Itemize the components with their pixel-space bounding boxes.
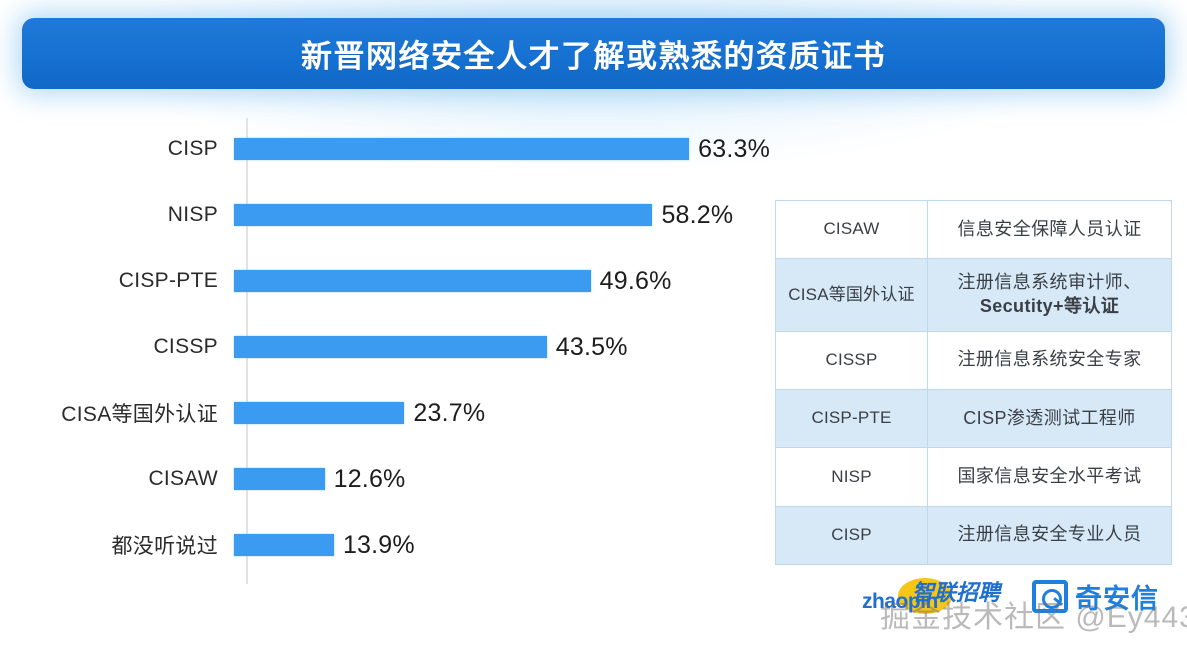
cert-code-cell: CISP-PTE <box>776 390 928 448</box>
cert-code-cell: CISA等国外认证 <box>776 259 928 331</box>
bar <box>234 468 325 490</box>
bar-category-label: CISP-PTE <box>0 269 232 293</box>
bar-value-label: 23.7% <box>413 399 485 428</box>
bar-row: CISP63.3% <box>0 128 770 170</box>
bar-row: CISP-PTE49.6% <box>0 260 770 302</box>
footer-logos: zhaopin 智联招聘 奇安信 <box>860 572 1187 620</box>
bar-category-label: CISA等国外认证 <box>0 398 232 428</box>
bar-row: CISAW12.6% <box>0 458 770 500</box>
infographic-root: 新晋网络安全人才了解或熟悉的资质证书 CISP63.3%NISP58.2%CIS… <box>0 0 1187 648</box>
bar-category-label: CISSP <box>0 335 232 359</box>
bar-value-label: 12.6% <box>334 465 406 494</box>
bar-with-value: 49.6% <box>234 267 672 296</box>
bar-category-label: NISP <box>0 203 232 227</box>
bar <box>234 270 591 292</box>
bar-value-label: 63.3% <box>698 135 770 164</box>
bar-row: 都没听说过13.9% <box>0 524 770 566</box>
table-row: NISP国家信息安全水平考试 <box>776 448 1172 506</box>
bar-with-value: 58.2% <box>234 201 733 230</box>
cert-description-line-1: 注册信息系统审计师、 <box>934 271 1165 295</box>
table-row: CISA等国外认证注册信息系统审计师、Secutity+等认证 <box>776 259 1172 331</box>
qianxin-cn-text: 奇安信 <box>1075 577 1159 616</box>
bar <box>234 336 547 358</box>
title-banner: 新晋网络安全人才了解或熟悉的资质证书 <box>22 18 1165 89</box>
cert-description-cell: CISP渗透测试工程师 <box>928 390 1172 448</box>
zhaopin-logo: zhaopin 智联招聘 <box>860 574 1030 618</box>
bar-row: CISSP43.5% <box>0 326 770 368</box>
cert-description-cell: 注册信息安全专业人员 <box>928 506 1172 564</box>
bar-value-label: 49.6% <box>600 267 672 296</box>
bar-with-value: 12.6% <box>234 465 405 494</box>
cert-description-cell: 信息安全保障人员认证 <box>928 201 1172 259</box>
qianxin-logo: 奇安信 <box>1032 575 1187 617</box>
table-row: CISP注册信息安全专业人员 <box>776 506 1172 564</box>
cert-description-cell: 注册信息系统审计师、Secutity+等认证 <box>928 259 1172 331</box>
bar <box>234 204 652 226</box>
bar-with-value: 23.7% <box>234 399 485 428</box>
cert-description-cell: 国家信息安全水平考试 <box>928 448 1172 506</box>
bar-value-label: 13.9% <box>343 531 415 560</box>
table-row: CISP-PTECISP渗透测试工程师 <box>776 390 1172 448</box>
qianxin-bracket-icon <box>1032 580 1068 613</box>
cert-code-cell: CISSP <box>776 331 928 389</box>
bar-row: NISP58.2% <box>0 194 770 236</box>
cert-description-line-2: Secutity+等认证 <box>934 295 1165 319</box>
zhaopin-cn-text: 智联招聘 <box>912 575 1000 607</box>
bar-category-label: CISAW <box>0 467 232 491</box>
bar-row: CISA等国外认证23.7% <box>0 392 770 434</box>
bar-chart: CISP63.3%NISP58.2%CISP-PTE49.6%CISSP43.5… <box>0 108 770 586</box>
bar-category-label: 都没听说过 <box>0 530 232 560</box>
cert-description-cell: 注册信息系统安全专家 <box>928 331 1172 389</box>
table-row: CISAW信息安全保障人员认证 <box>776 201 1172 259</box>
bar-with-value: 13.9% <box>234 531 415 560</box>
cert-code-cell: CISP <box>776 506 928 564</box>
bar-value-label: 58.2% <box>661 201 733 230</box>
bar-with-value: 43.5% <box>234 333 628 362</box>
bar <box>234 402 404 424</box>
bar-with-value: 63.3% <box>234 135 770 164</box>
bar-value-label: 43.5% <box>556 333 628 362</box>
page-title: 新晋网络安全人才了解或熟悉的资质证书 <box>301 31 886 76</box>
cert-code-cell: CISAW <box>776 201 928 259</box>
cert-code-cell: NISP <box>776 448 928 506</box>
table-row: CISSP注册信息系统安全专家 <box>776 331 1172 389</box>
bar <box>234 534 334 556</box>
certification-glossary-table: CISAW信息安全保障人员认证CISA等国外认证注册信息系统审计师、Secuti… <box>775 200 1172 565</box>
bar-category-label: CISP <box>0 137 232 161</box>
bar <box>234 138 689 160</box>
